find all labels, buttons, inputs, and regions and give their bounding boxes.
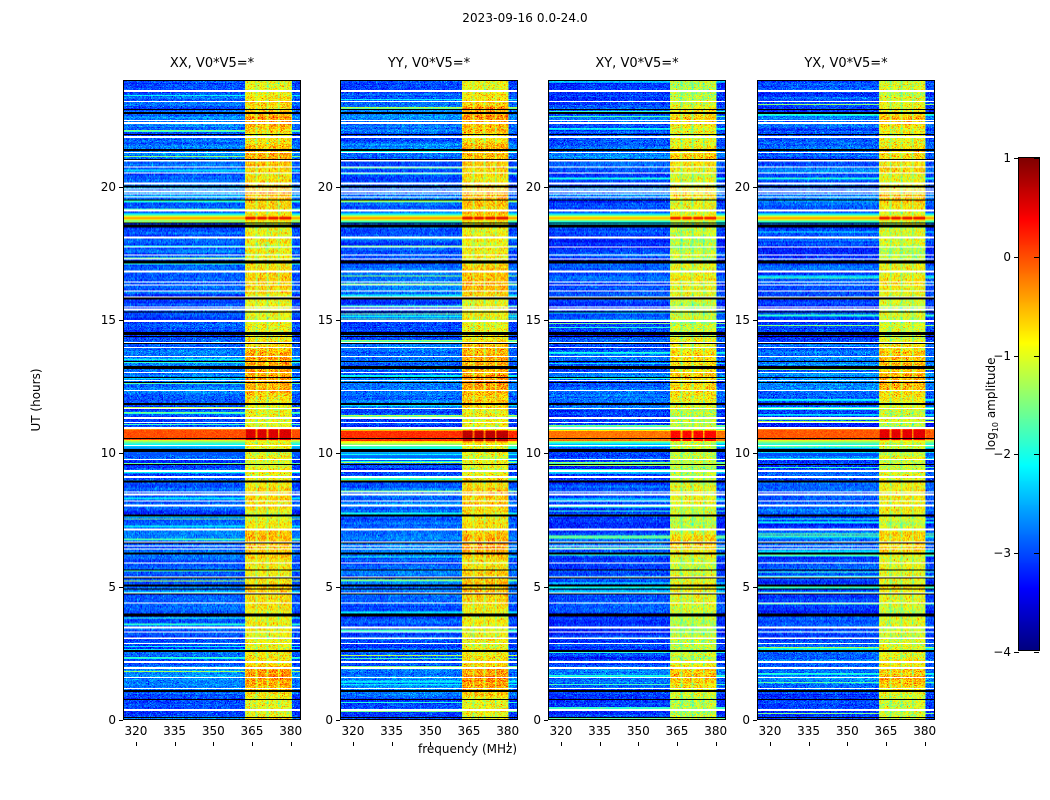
- y-tick: [119, 587, 123, 588]
- x-ticklabel: 320: [124, 724, 147, 738]
- x-ticklabel: 350: [836, 724, 859, 738]
- x-tick: [508, 742, 509, 746]
- y-ticklabel: 15: [526, 313, 541, 327]
- spectrogram-image-yx: [758, 81, 934, 719]
- colorbar-tick-inner: [1034, 257, 1039, 258]
- x-tick: [252, 742, 253, 746]
- spectrogram-image-xy: [549, 81, 725, 719]
- y-ticklabel: 10: [526, 446, 541, 460]
- x-ticklabel: 350: [627, 724, 650, 738]
- colorbar-tick-inner: [1034, 652, 1039, 653]
- x-tick: [886, 742, 887, 746]
- colorbar-tick-inner: [1034, 356, 1039, 357]
- spectrogram-image-yy: [341, 81, 517, 719]
- x-tick: [809, 742, 810, 746]
- colorbar-ticklabel: 1: [1003, 151, 1011, 165]
- colorbar-gradient: [1019, 158, 1039, 650]
- x-tick: [770, 742, 771, 746]
- figure-canvas: 2023-09-16 0.0-24.0 UT (hours) frequency…: [0, 0, 1050, 800]
- x-ticklabel: 335: [797, 724, 820, 738]
- y-ticklabel: 20: [735, 180, 750, 194]
- y-tick: [753, 187, 757, 188]
- x-ticklabel: 320: [549, 724, 572, 738]
- y-tick: [119, 453, 123, 454]
- y-axis-label: UT (hours): [29, 368, 43, 431]
- y-tick: [336, 187, 340, 188]
- y-tick: [544, 453, 548, 454]
- x-ticklabel: 350: [419, 724, 442, 738]
- panel-title-xx: XX, V0*V5=*: [123, 56, 301, 71]
- colorbar-tick: [1014, 158, 1019, 159]
- y-ticklabel: 5: [742, 580, 750, 594]
- x-tick: [392, 742, 393, 746]
- x-tick: [291, 742, 292, 746]
- y-tick: [753, 720, 757, 721]
- y-ticklabel: 20: [318, 180, 333, 194]
- x-tick: [469, 742, 470, 746]
- y-ticklabel: 20: [526, 180, 541, 194]
- panel-title-yy: YY, V0*V5=*: [340, 56, 518, 71]
- colorbar-ticklabel: −4: [993, 645, 1011, 659]
- y-tick: [119, 187, 123, 188]
- y-ticklabel: 10: [318, 446, 333, 460]
- x-tick: [213, 742, 214, 746]
- y-ticklabel: 0: [325, 713, 333, 727]
- x-tick: [561, 742, 562, 746]
- y-ticklabel: 10: [735, 446, 750, 460]
- x-ticklabel: 365: [875, 724, 898, 738]
- x-tick: [716, 742, 717, 746]
- x-tick: [925, 742, 926, 746]
- spectrogram-xy: [548, 80, 726, 720]
- figure-suptitle: 2023-09-16 0.0-24.0: [0, 11, 1050, 25]
- x-axis-ticklabels-xx: 320335350365380: [111, 724, 313, 742]
- y-tick: [119, 720, 123, 721]
- spectrogram-xx: [123, 80, 301, 720]
- panel-title-xy: XY, V0*V5=*: [548, 56, 726, 71]
- x-ticklabel: 365: [666, 724, 689, 738]
- colorbar-label-sub: 10: [991, 422, 1000, 432]
- x-tick: [353, 742, 354, 746]
- colorbar-tick: [1014, 257, 1019, 258]
- y-tick: [336, 453, 340, 454]
- x-axis-label: frequency (MHz): [0, 742, 935, 756]
- panel-yy: YY, V0*V5=*32033535036538005101520: [340, 80, 518, 720]
- colorbar: 10−1−2−3−4: [1018, 157, 1040, 651]
- colorbar-tick: [1014, 652, 1019, 653]
- y-tick: [753, 453, 757, 454]
- x-ticklabel: 380: [704, 724, 727, 738]
- panel-xx: XX, V0*V5=*32033535036538005101520: [123, 80, 301, 720]
- x-axis-ticklabels-xy: 320335350365380: [536, 724, 738, 742]
- colorbar-tick: [1014, 454, 1019, 455]
- x-tick: [600, 742, 601, 746]
- x-ticklabel: 320: [341, 724, 364, 738]
- x-tick: [638, 742, 639, 746]
- x-tick: [847, 742, 848, 746]
- x-ticklabel: 380: [913, 724, 936, 738]
- x-tick: [430, 742, 431, 746]
- y-tick: [753, 320, 757, 321]
- x-ticklabel: 335: [588, 724, 611, 738]
- y-tick: [336, 320, 340, 321]
- spectrogram-yx: [757, 80, 935, 720]
- colorbar-label-tail: amplitude: [984, 358, 998, 422]
- y-ticklabel: 5: [108, 580, 116, 594]
- y-tick: [753, 587, 757, 588]
- y-ticklabel: 15: [318, 313, 333, 327]
- x-ticklabel: 335: [380, 724, 403, 738]
- x-tick: [175, 742, 176, 746]
- panel-title-yx: YX, V0*V5=*: [757, 56, 935, 71]
- y-tick: [544, 187, 548, 188]
- x-ticklabel: 380: [496, 724, 519, 738]
- y-tick: [119, 320, 123, 321]
- y-tick: [544, 587, 548, 588]
- y-ticklabel: 0: [533, 713, 541, 727]
- x-axis-ticklabels-yy: 320335350365380: [328, 724, 530, 742]
- x-ticklabel: 365: [458, 724, 481, 738]
- panel-yx: YX, V0*V5=*32033535036538005101520: [757, 80, 935, 720]
- x-ticklabel: 380: [279, 724, 302, 738]
- y-ticklabel: 20: [101, 180, 116, 194]
- y-tick: [544, 720, 548, 721]
- x-ticklabel: 320: [758, 724, 781, 738]
- y-ticklabel: 5: [325, 580, 333, 594]
- colorbar-tick: [1014, 356, 1019, 357]
- colorbar-ticklabel: −3: [993, 546, 1011, 560]
- colorbar-ticklabel: 0: [1003, 250, 1011, 264]
- x-axis-ticklabels-yx: 320335350365380: [745, 724, 947, 742]
- y-ticklabel: 10: [101, 446, 116, 460]
- x-ticklabel: 335: [163, 724, 186, 738]
- y-tick: [336, 587, 340, 588]
- y-ticklabel: 15: [735, 313, 750, 327]
- colorbar-label: log10 amplitude: [984, 358, 1000, 451]
- colorbar-tick-inner: [1034, 158, 1039, 159]
- x-ticklabel: 350: [202, 724, 225, 738]
- colorbar-tick-inner: [1034, 454, 1039, 455]
- y-ticklabel: 0: [108, 713, 116, 727]
- x-tick: [136, 742, 137, 746]
- y-ticklabel: 0: [742, 713, 750, 727]
- colorbar-label-main: log: [984, 432, 998, 450]
- panel-xy: XY, V0*V5=*32033535036538005101520: [548, 80, 726, 720]
- y-tick: [544, 320, 548, 321]
- colorbar-tick: [1014, 553, 1019, 554]
- x-tick: [677, 742, 678, 746]
- y-tick: [336, 720, 340, 721]
- x-ticklabel: 365: [241, 724, 264, 738]
- spectrogram-yy: [340, 80, 518, 720]
- y-ticklabel: 5: [533, 580, 541, 594]
- colorbar-tick-inner: [1034, 553, 1039, 554]
- spectrogram-image-xx: [124, 81, 300, 719]
- y-ticklabel: 15: [101, 313, 116, 327]
